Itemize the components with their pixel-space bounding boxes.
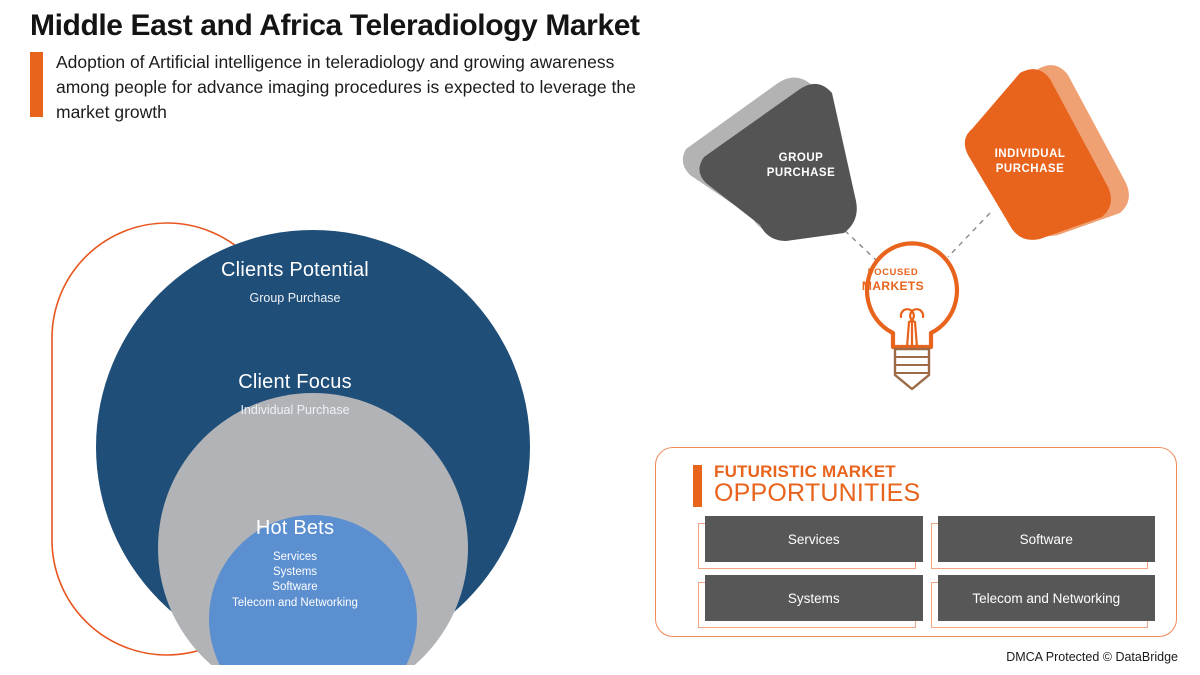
opportunity-box-services[interactable]: Services [705,516,923,562]
group-purchase-shape [699,84,856,241]
panel-heading-text: FUTURISTIC MARKET OPPORTUNITIES [714,463,920,506]
panel-accent-bar [693,465,702,507]
focused-markets-svg [660,55,1160,425]
panel-heading-row: FUTURISTIC MARKET OPPORTUNITIES [693,463,1176,507]
bulb-base [895,349,929,389]
subtitle-accent-bar [30,52,43,117]
individual-purchase-shape [965,69,1111,240]
page-title: Middle East and Africa Teleradiology Mar… [30,8,710,44]
connector-individual-to-bulb [948,213,990,257]
opportunity-grid: Services Software Systems Telecom and Ne… [698,516,1148,625]
lightbulb-icon [867,243,957,389]
page-subtitle: Adoption of Artificial intelligence in t… [56,50,656,125]
opportunity-cell: Software [931,516,1149,566]
opportunity-cell: Telecom and Networking [931,575,1149,625]
panel-heading-line2: OPPORTUNITIES [714,481,920,506]
concentric-circles-figure: Clients Potential Group Purchase Client … [35,215,555,665]
opportunity-box-software[interactable]: Software [938,516,1156,562]
opportunity-box-systems[interactable]: Systems [705,575,923,621]
concentric-circles-svg [35,215,555,665]
opportunity-cell: Systems [698,575,916,625]
footer-credit: DMCA Protected © DataBridge [1006,650,1178,664]
opportunity-cell: Services [698,516,916,566]
panel-heading-line1: FUTURISTIC MARKET [714,463,920,480]
header-block: Middle East and Africa Teleradiology Mar… [30,8,710,125]
futuristic-market-opportunities-panel: FUTURISTIC MARKET OPPORTUNITIES Services… [655,447,1177,637]
opportunity-box-telecom[interactable]: Telecom and Networking [938,575,1156,621]
subtitle-row: Adoption of Artificial intelligence in t… [30,50,710,125]
focused-markets-figure: GROUPPURCHASE INDIVIDUALPURCHASE FOCUSED… [660,55,1160,425]
bulb-base-threads [895,357,929,373]
bulb-filament [901,309,923,347]
